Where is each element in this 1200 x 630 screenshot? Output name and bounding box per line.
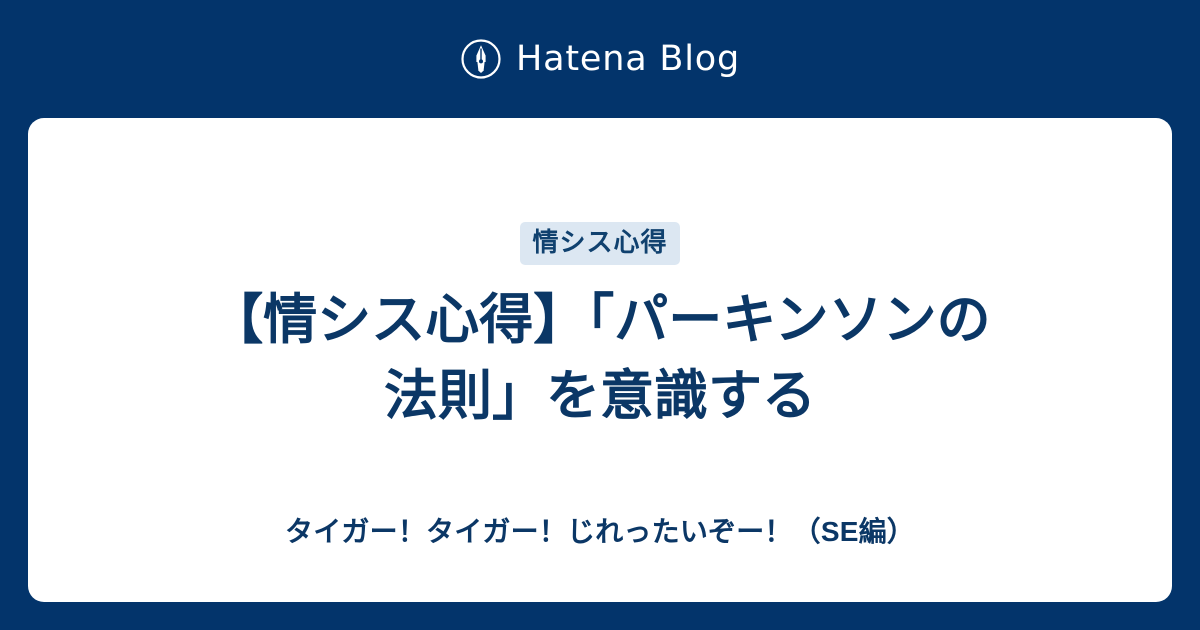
entry-card: 情シス心得 【情シス心得】「パーキンソンの 法則」を意識する タイガー！タイガー… bbox=[28, 118, 1172, 602]
entry-title-line-1: 【情シス心得】「パーキンソンの bbox=[209, 282, 990, 358]
category-badge[interactable]: 情シス心得 bbox=[520, 222, 679, 265]
blog-name: タイガー！タイガー！じれったいぞー！（SE編） bbox=[285, 518, 915, 546]
pen-nib-circle-icon bbox=[460, 38, 502, 80]
brand-name: Hatena Blog bbox=[516, 42, 740, 77]
entry-title-line-2: 法則」を意識する bbox=[209, 358, 990, 434]
entry-card-inner: 情シス心得 【情シス心得】「パーキンソンの 法則」を意識する タイガー！タイガー… bbox=[100, 118, 1100, 546]
entry-title: 【情シス心得】「パーキンソンの 法則」を意識する bbox=[209, 282, 990, 434]
brand-header: Hatena Blog bbox=[0, 0, 1200, 118]
ogp-share-card: Hatena Blog 情シス心得 【情シス心得】「パーキンソンの 法則」を意識… bbox=[0, 0, 1200, 630]
